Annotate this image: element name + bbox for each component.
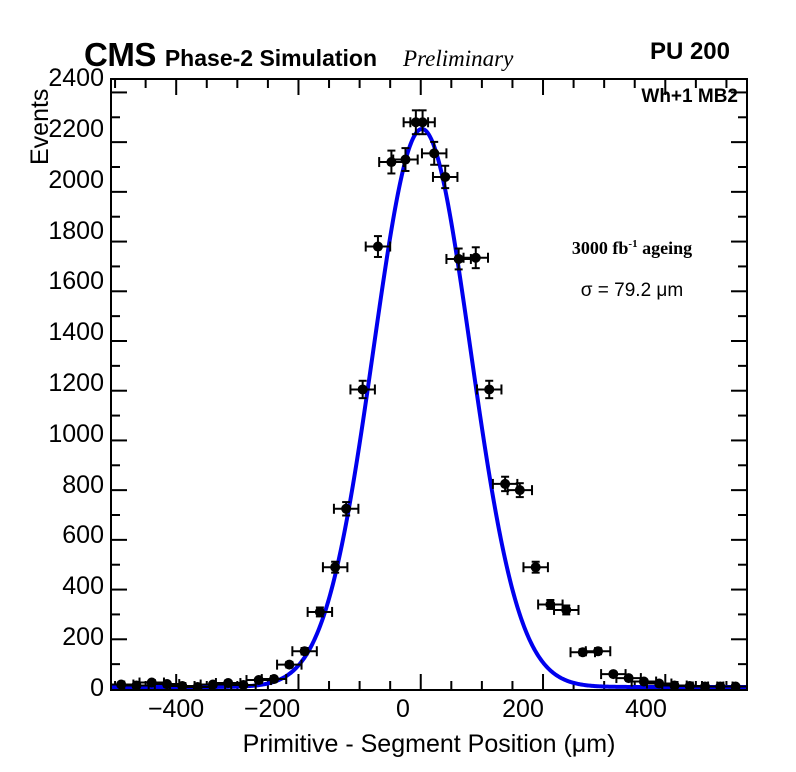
data-point [350, 381, 374, 398]
data-point [292, 646, 316, 656]
data-point [446, 249, 470, 270]
luminosity-value: 3000 fb [572, 238, 629, 258]
y-tick-label: 1600 [4, 269, 104, 294]
marker [341, 504, 351, 514]
plot-canvas [112, 80, 746, 689]
pileup-label: PU 200 [650, 40, 730, 64]
y-tick-label: 600 [4, 523, 104, 548]
marker [440, 172, 450, 182]
marker [373, 242, 383, 252]
simulation-label: Phase-2 Simulation [165, 47, 377, 70]
y-tick-label: 1800 [4, 219, 104, 244]
plot-frame: Wh+1 MB2 3000 fb-1 ageing σ = 79.2 μm [110, 78, 748, 691]
marker [429, 148, 439, 158]
marker [531, 562, 541, 572]
data-point [410, 110, 434, 134]
marker [315, 607, 325, 617]
chart-page: CMS Phase-2 Simulation Preliminary PU 20… [0, 0, 796, 772]
marker [284, 660, 294, 670]
data-point [464, 247, 488, 268]
x-axis-title: Primitive - Segment Position (μm) [110, 730, 748, 759]
y-tick-label: 1000 [4, 422, 104, 447]
data-point [523, 562, 547, 573]
chart-header: CMS Phase-2 Simulation Preliminary PU 20… [0, 38, 796, 72]
data-point [393, 148, 417, 171]
data-point [508, 483, 532, 497]
y-tick-label: 1400 [4, 320, 104, 345]
luminosity-exponent: -1 [628, 238, 637, 250]
data-point [422, 142, 446, 165]
gaussian-fit-curve [112, 129, 746, 687]
marker [561, 605, 571, 615]
data-point [323, 562, 347, 573]
marker [593, 646, 603, 656]
y-tick-label: 0 [4, 676, 104, 701]
data-point [493, 477, 517, 491]
marker [454, 254, 464, 264]
sigma-annotation: σ = 79.2 μm [512, 280, 752, 302]
marker [386, 157, 396, 167]
marker [515, 485, 525, 495]
marker [484, 384, 494, 394]
data-point [334, 502, 358, 515]
x-tick-label: −200 [212, 697, 332, 722]
x-tick-label: 0 [343, 697, 463, 722]
data-point [538, 599, 562, 609]
luminosity-annotation: 3000 fb-1 ageing [512, 238, 752, 259]
data-point [586, 646, 610, 656]
marker [358, 384, 368, 394]
y-tick-label: 2400 [4, 66, 104, 91]
header-left-group: CMS Phase-2 Simulation Preliminary [84, 38, 513, 71]
data-point [433, 166, 457, 188]
x-tick-label: 200 [463, 697, 583, 722]
preliminary-label: Preliminary [403, 47, 513, 70]
chamber-region-label: Wh+1 MB2 [641, 86, 738, 108]
ageing-text: ageing [638, 238, 693, 258]
y-tick-label: 800 [4, 473, 104, 498]
y-tick-label: 1200 [4, 371, 104, 396]
data-point [477, 381, 501, 398]
y-tick-label: 2000 [4, 168, 104, 193]
marker [300, 646, 310, 656]
y-tick-label: 200 [4, 625, 104, 650]
marker [471, 253, 481, 263]
marker [400, 155, 410, 165]
data-point [379, 151, 403, 174]
marker [500, 479, 510, 489]
y-axis-title: Events [26, 89, 55, 165]
x-tick-label: 400 [586, 697, 706, 722]
data-point [308, 607, 332, 617]
y-tick-label: 400 [4, 574, 104, 599]
data-point [554, 605, 578, 615]
marker [330, 562, 340, 572]
marker [269, 674, 279, 684]
marker [418, 117, 428, 127]
